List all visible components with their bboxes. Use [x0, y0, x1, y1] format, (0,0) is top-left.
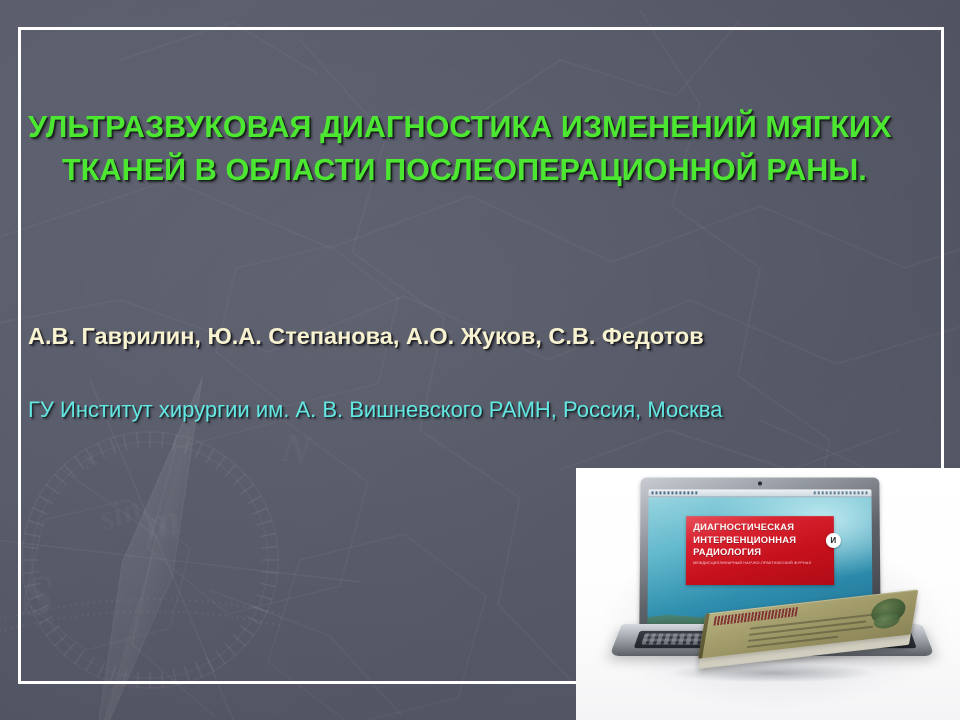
- presentation-slide: S sin m N x УЛЬТРАЗВУКОВАЯ ДИАГНОСТИКА И…: [0, 0, 960, 720]
- journal-subtitle: МЕЖДИСЦИПЛИНАРНЫЙ НАУЧНО-ПРАКТИЧЕСКИЙ ЖУ…: [693, 561, 828, 565]
- journal-cover-banner: ДИАГНОСТИЧЕСКАЯ ИНТЕРВЕНЦИОННАЯ РАДИОЛОГ…: [686, 517, 834, 585]
- laptop-journal-photo: ДИАГНОСТИЧЕСКАЯ ИНТЕРВЕНЦИОННАЯ РАДИОЛОГ…: [576, 468, 960, 720]
- authors-line: А.В. Гаврилин, Ю.А. Степанова, А.О. Жуко…: [28, 322, 908, 351]
- screen-toolbar: [648, 489, 871, 497]
- journal-badge: И: [826, 533, 841, 548]
- page-title: УЛЬТРАЗВУКОВАЯ ДИАГНОСТИКА ИЗМЕНЕНИЙ МЯГ…: [28, 106, 892, 193]
- webcam-icon: [758, 481, 762, 485]
- journal-title-line-1: ДИАГНОСТИЧЕСКАЯ: [693, 522, 828, 534]
- journal-badge-letter: И: [830, 536, 836, 545]
- laptop-illustration: ДИАГНОСТИЧЕСКАЯ ИНТЕРВЕНЦИОННАЯ РАДИОЛОГ…: [622, 474, 922, 692]
- journal-title-line-2: ИНТЕРВЕНЦИОННАЯ: [693, 534, 828, 546]
- journal-title-line-3: РАДИОЛОГИЯ: [693, 546, 828, 558]
- affiliation-line: ГУ Институт хирургии им. А. В. Вишневско…: [28, 396, 928, 424]
